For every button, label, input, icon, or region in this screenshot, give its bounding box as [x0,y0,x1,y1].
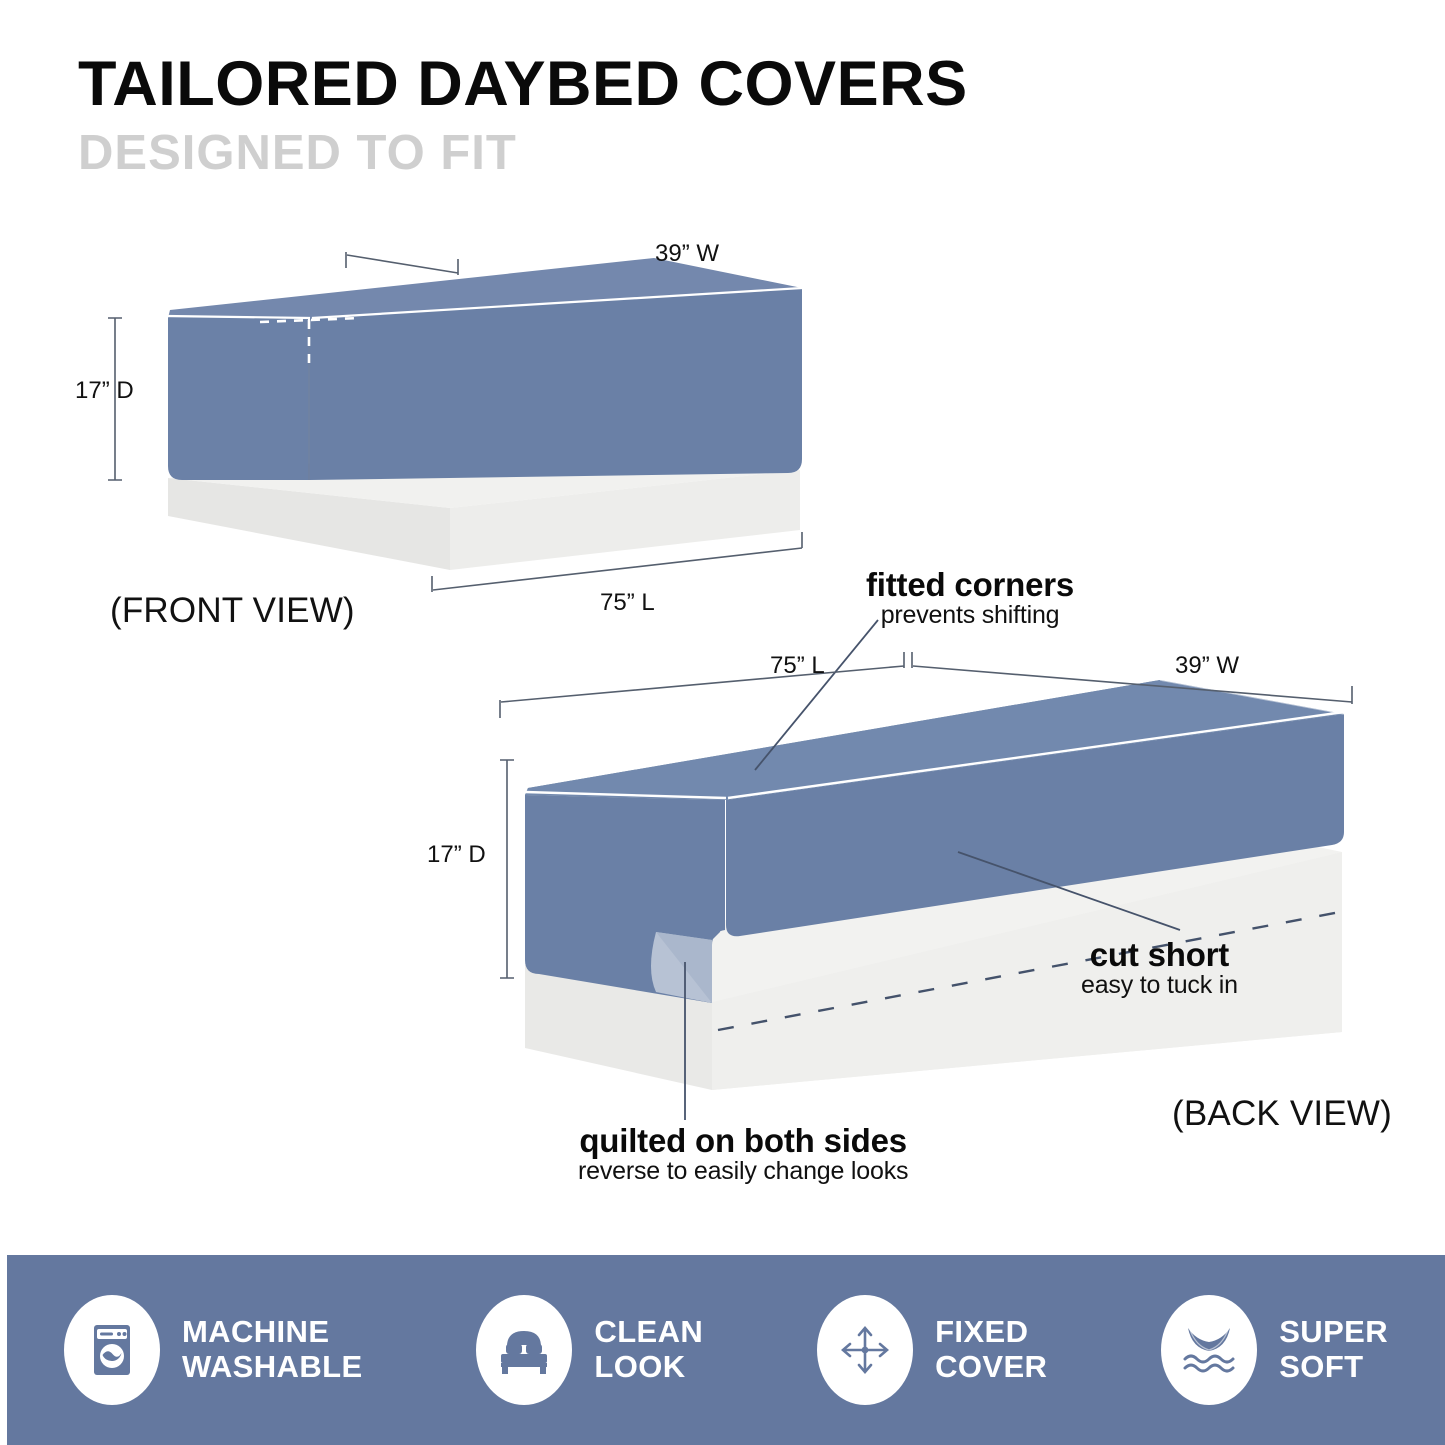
front-view-caption: (FRONT VIEW) [110,591,355,631]
feature-label-super-soft: SUPER SOFT [1279,1315,1388,1384]
front-width-dimension: 39” W [655,240,719,268]
front-length-dimension: 75” L [600,589,655,617]
callout-fitted-corners: fitted corners prevents shifting [866,568,1074,629]
feature-bar: MACHINE WASHABLE CLEAN LOOK [7,1255,1445,1445]
feature-label-machine-washable: MACHINE WASHABLE [182,1315,363,1384]
back-width-dimension: 39” W [1175,652,1239,680]
four-way-arrow-icon [817,1295,913,1405]
callout-fitted-corners-title: fitted corners [866,568,1074,602]
feather-waves-icon [1161,1295,1257,1405]
front-depth-dimension: 17” D [75,377,134,405]
feature-item-super-soft: SUPER SOFT [1161,1295,1388,1405]
back-length-top-dimension: 75” L [770,652,825,680]
feature-item-fixed-cover: FIXED COVER [817,1295,1047,1405]
back-view-illustration [480,640,1380,1110]
page-subtitle: DESIGNED TO FIT [78,128,1378,179]
callout-fitted-corners-subtitle: prevents shifting [866,602,1074,630]
front-view-illustration [60,230,860,630]
feature-label-clean-look: CLEAN LOOK [594,1315,703,1384]
feature-item-clean-look: CLEAN LOOK [476,1295,703,1405]
infographic-page: TAILORED DAYBED COVERS DESIGNED TO FIT 3… [0,0,1445,1445]
callout-quilted: quilted on both sides reverse to easily … [578,1124,908,1185]
callout-cut-short-subtitle: easy to tuck in [1081,972,1238,1000]
header: TAILORED DAYBED COVERS DESIGNED TO FIT [78,52,1378,180]
callout-quilted-subtitle: reverse to easily change looks [578,1158,908,1186]
feature-item-machine-washable: MACHINE WASHABLE [64,1295,363,1405]
back-view-caption: (BACK VIEW) [1172,1094,1392,1134]
callout-cut-short: cut short easy to tuck in [1081,938,1238,999]
feature-label-fixed-cover: FIXED COVER [935,1315,1047,1384]
page-title: TAILORED DAYBED COVERS [78,52,1378,116]
bed-icon [476,1295,572,1405]
washing-machine-icon [64,1295,160,1405]
callout-quilted-title: quilted on both sides [578,1124,908,1158]
back-depth-dimension: 17” D [427,841,486,869]
callout-cut-short-title: cut short [1081,938,1238,972]
